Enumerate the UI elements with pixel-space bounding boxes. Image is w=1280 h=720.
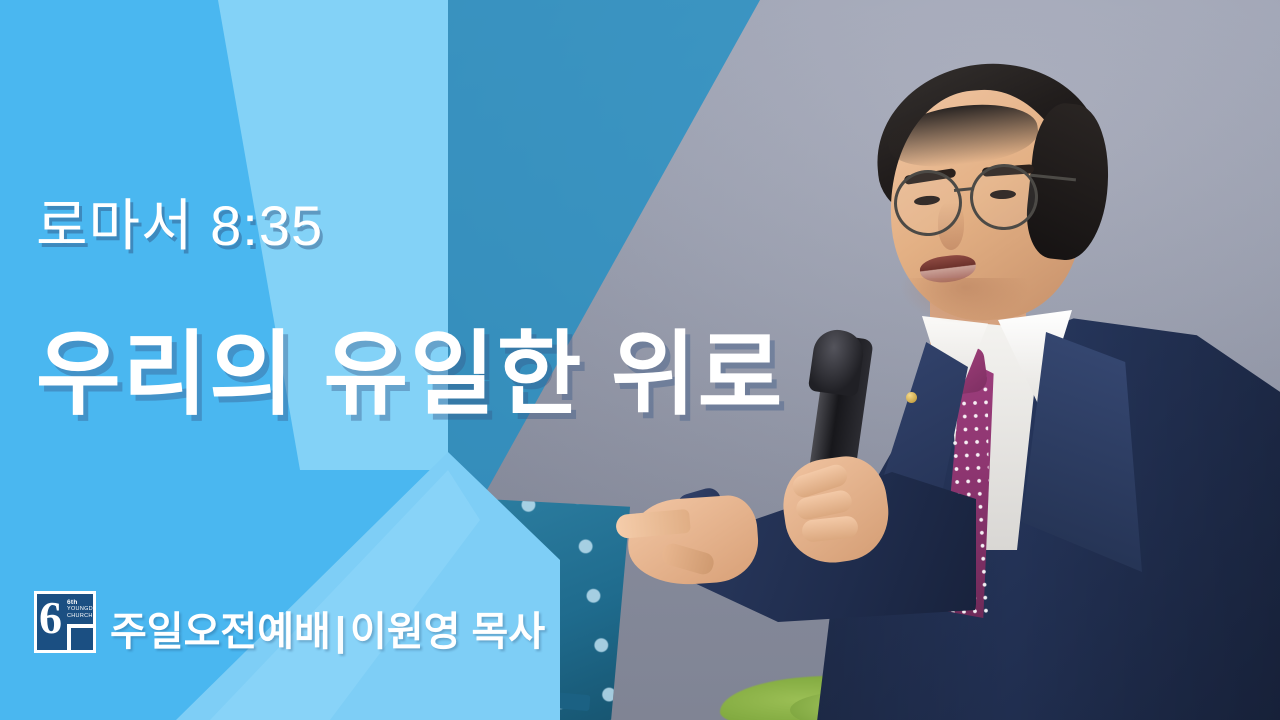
church-logo: 6 6th YOUNGDO CHURCH [34, 591, 96, 653]
church-logo-line1: YOUNGDO [67, 606, 93, 613]
chin-shading [900, 278, 1030, 324]
church-logo-line2: CHURCH [67, 613, 93, 620]
service-caption: 주일오전예배|이원영 목사 [110, 599, 545, 657]
preacher-name: 이원영 목사 [350, 610, 545, 654]
church-logo-wordmark: 6th YOUNGDO CHURCH [67, 599, 93, 620]
gold-lapel-pin-icon [906, 392, 917, 403]
caption-separator: | [331, 610, 350, 654]
church-logo-notch-inner [71, 628, 93, 650]
service-name: 주일오전예배 [110, 610, 331, 654]
sermon-title: 우리의 유일한 위로 [36, 300, 784, 433]
church-logo-box: 6 6th YOUNGDO CHURCH [37, 594, 93, 650]
scripture-reference: 로마서 8:35 [36, 181, 323, 262]
church-logo-ordinal: 6th [67, 599, 93, 606]
church-logo-numeral: 6 [39, 595, 62, 641]
sermon-title-slide: 로마서 8:35 우리의 유일한 위로 6 6th YOUNGDO CHURCH… [0, 0, 1280, 720]
